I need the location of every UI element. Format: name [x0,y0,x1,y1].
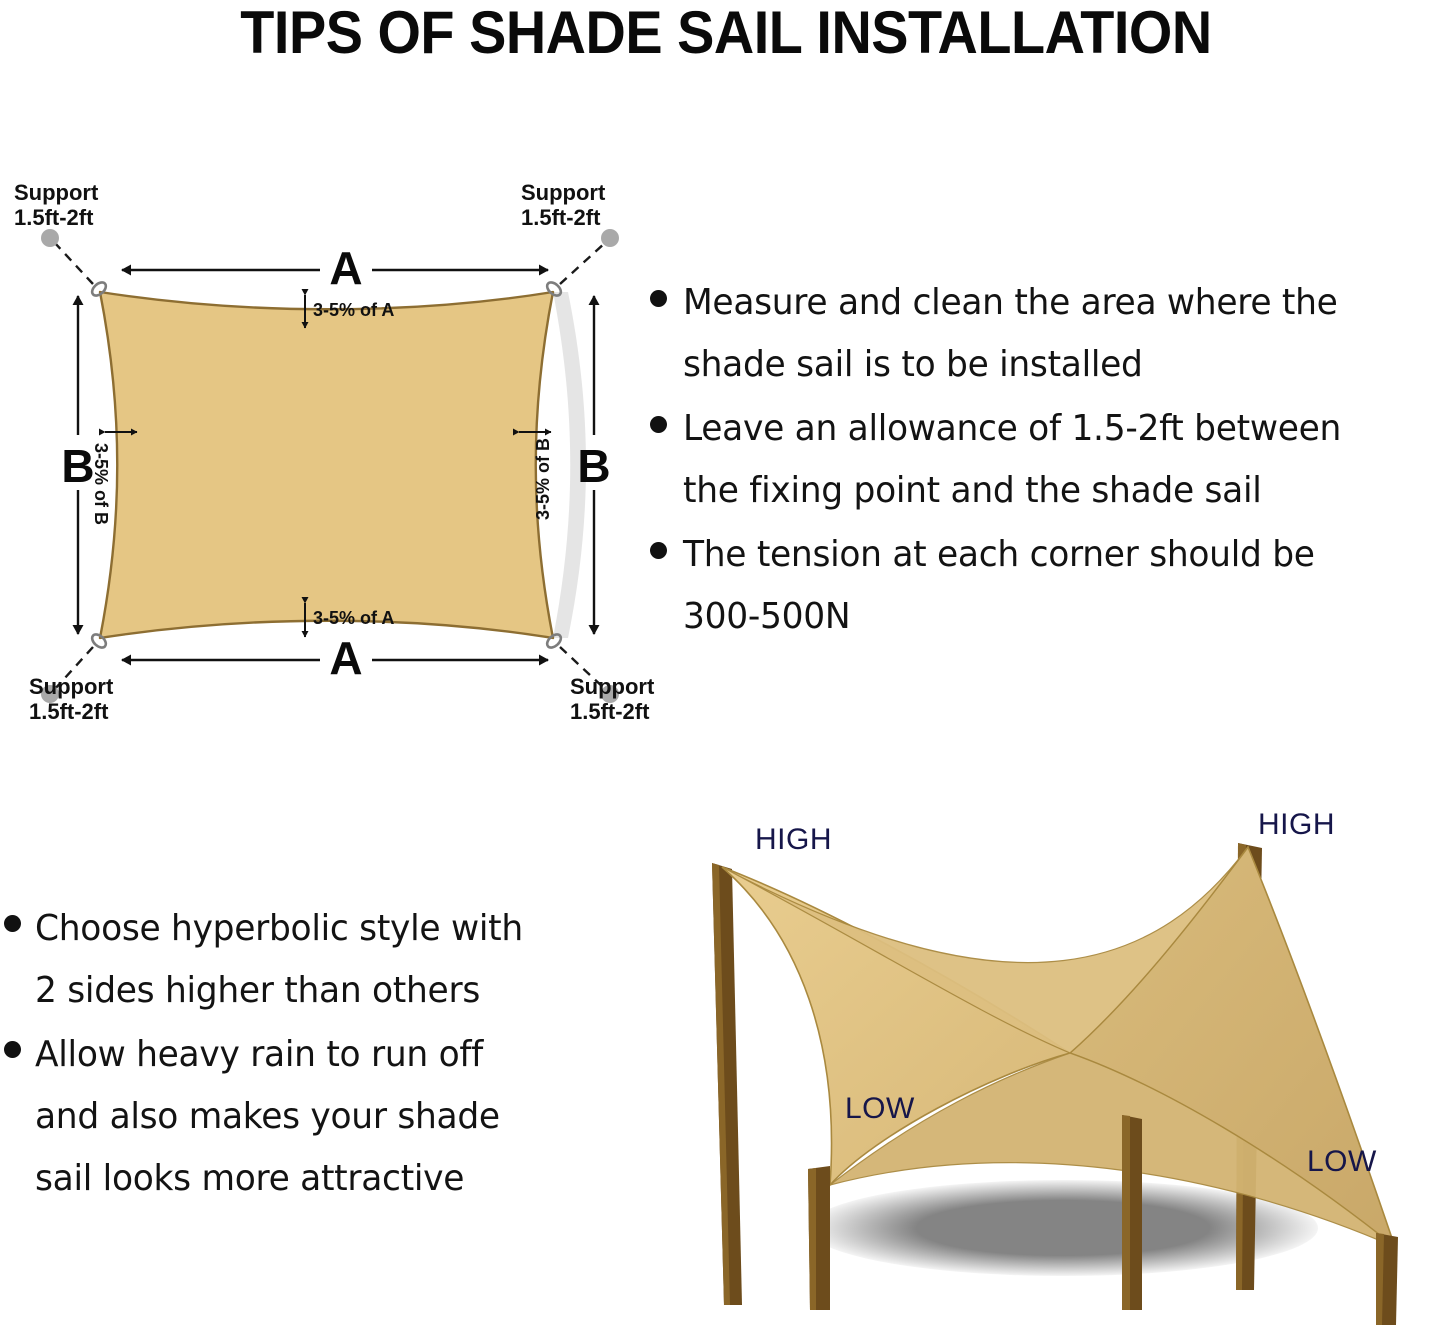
label-low-left: LOW [845,1092,915,1126]
page-title: TIPS OF SHADE SAIL INSTALLATION [51,2,1401,64]
curve-depth-label-right: 3-5% of B [533,438,554,520]
sail-dimension-diagram: A A B B [0,160,680,740]
shade-sail-installation-infographic: TIPS OF SHADE SAIL INSTALLATION [0,0,1452,1325]
bullet-dot-icon [650,416,667,433]
bullet-dot-icon [4,915,21,932]
bullet-dot-icon [4,1041,21,1058]
dimension-label-b-right: B [577,440,610,492]
bullet-dot-icon [650,290,667,307]
list-item-text: The tension at each corner should be 300… [683,524,1315,648]
installation-tips-list: Measure and clean the area where the sha… [650,272,1452,650]
shade-sail-fabric [100,292,553,638]
curve-depth-label-top: 3-5% of A [313,300,394,321]
support-label-top-left: Support 1.5ft-2ft [14,180,98,230]
hyperbolic-style-tips-list: Choose hyperbolic style with 2 sides hig… [4,898,629,1212]
list-item-text: Choose hyperbolic style with 2 sides hig… [35,898,523,1022]
curve-depth-label-bottom: 3-5% of A [313,608,394,629]
list-item: The tension at each corner should be 300… [650,524,1452,648]
support-label-bottom-left: Support 1.5ft-2ft [29,674,113,724]
label-high-left: HIGH [755,823,832,857]
support-label-bottom-right: Support 1.5ft-2ft [570,674,654,724]
list-item-text: Measure and clean the area where the sha… [683,272,1338,396]
dimension-label-a-top: A [329,242,362,294]
list-item: Allow heavy rain to run off and also mak… [4,1024,629,1210]
list-item: Choose hyperbolic style with 2 sides hig… [4,898,629,1022]
post-back-left [712,863,742,1305]
support-label-top-right: Support 1.5ft-2ft [521,180,605,230]
post-front-right [1376,1233,1398,1325]
post-front-left [808,1166,830,1310]
bullet-dot-icon [650,542,667,559]
curve-depth-label-left: 3-5% of B [90,443,111,525]
list-item: Leave an allowance of 1.5-2ft between th… [650,398,1452,522]
list-item-text: Allow heavy rain to run off and also mak… [35,1024,500,1210]
list-item: Measure and clean the area where the sha… [650,272,1452,396]
label-high-right: HIGH [1258,808,1335,842]
label-low-right: LOW [1307,1145,1377,1179]
dimension-label-a-bottom: A [329,632,362,684]
list-item-text: Leave an allowance of 1.5-2ft between th… [683,398,1341,522]
post-middle-right [1122,1115,1142,1310]
hyperbolic-sail-illustration [690,785,1452,1325]
